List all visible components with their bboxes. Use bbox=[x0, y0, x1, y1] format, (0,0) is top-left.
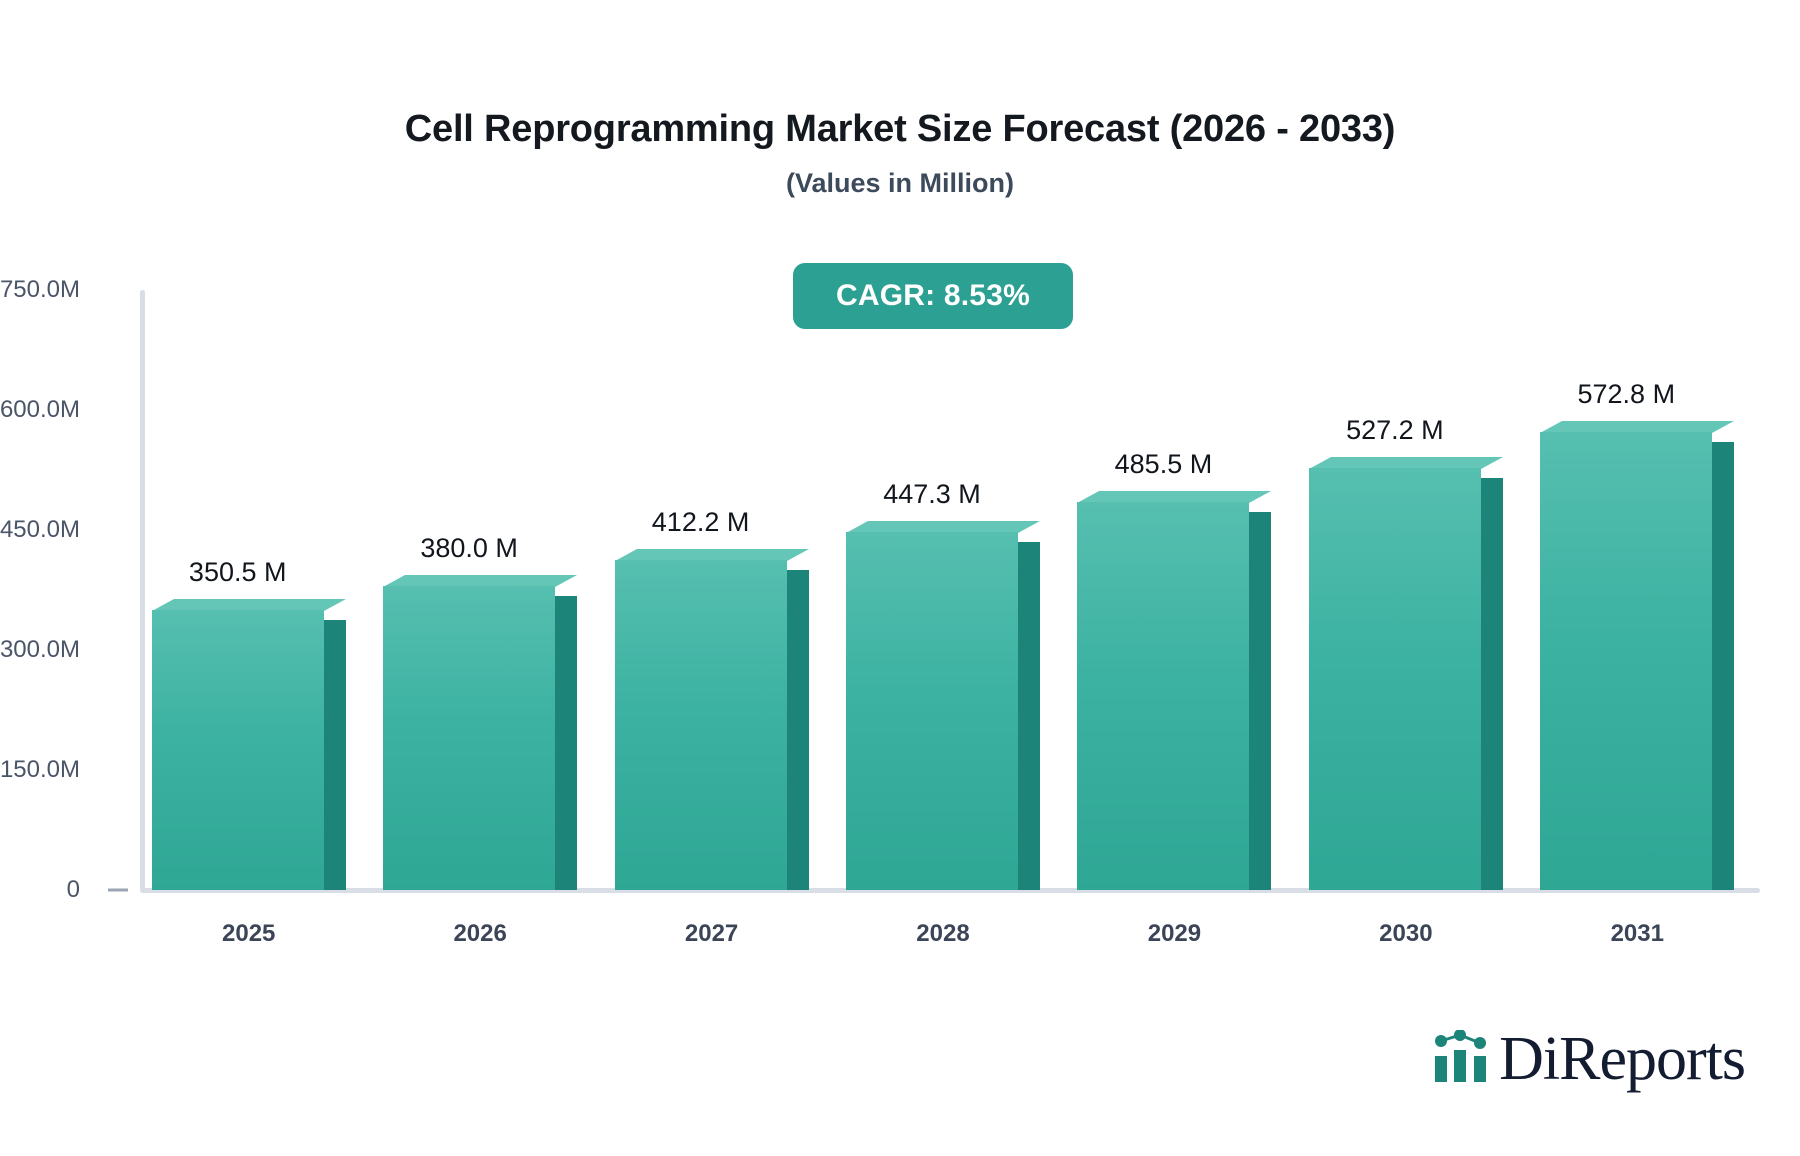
bar-front-face bbox=[1309, 468, 1481, 890]
x-axis-tick-label: 2026 bbox=[453, 920, 506, 948]
bar-2025[interactable]: 350.5 M bbox=[152, 610, 324, 890]
x-axis-tick-label: 2031 bbox=[1611, 920, 1664, 948]
y-axis-zero-tick bbox=[108, 889, 128, 892]
bar-2030[interactable]: 527.2 M bbox=[1309, 468, 1481, 890]
direports-logo: DiReports bbox=[1433, 1028, 1745, 1090]
bar-value-label: 380.0 M bbox=[420, 533, 518, 564]
bar-value-label: 485.5 M bbox=[1115, 449, 1213, 480]
bar-front-face bbox=[615, 560, 787, 890]
bar-front-face bbox=[1540, 432, 1712, 890]
bar-front-face bbox=[383, 586, 555, 890]
bar-side-face bbox=[324, 620, 346, 890]
bar-value-label: 572.8 M bbox=[1578, 379, 1676, 410]
bar-front-face bbox=[1077, 502, 1249, 890]
bar-side-face bbox=[555, 596, 577, 890]
bar-side-face bbox=[1481, 478, 1503, 890]
bar-side-face bbox=[1249, 512, 1271, 890]
chart-container: Cell Reprogramming Market Size Forecast … bbox=[0, 0, 1800, 1156]
chart-title: Cell Reprogramming Market Size Forecast … bbox=[0, 108, 1800, 151]
y-axis-tick-label: 150.0M bbox=[0, 756, 80, 784]
bar-side-face bbox=[787, 570, 809, 890]
x-axis-tick-label: 2025 bbox=[222, 920, 275, 948]
plot-area: 350.5 M380.0 M412.2 M447.3 M485.5 M527.2… bbox=[140, 290, 1760, 890]
bar-2028[interactable]: 447.3 M bbox=[846, 532, 1018, 890]
bar-front-face bbox=[152, 610, 324, 890]
bar-front-face bbox=[846, 532, 1018, 890]
y-axis-tick-label: 300.0M bbox=[0, 636, 80, 664]
bars-layer: 350.5 M380.0 M412.2 M447.3 M485.5 M527.2… bbox=[140, 290, 1760, 890]
y-axis-tick-label: 0 bbox=[0, 876, 80, 904]
bar-2029[interactable]: 485.5 M bbox=[1077, 502, 1249, 890]
chart-subtitle: (Values in Million) bbox=[0, 168, 1800, 199]
bar-value-label: 350.5 M bbox=[189, 557, 287, 588]
logo-wordmark: DiReports bbox=[1499, 1028, 1745, 1090]
bar-side-face bbox=[1712, 442, 1734, 890]
bar-2026[interactable]: 380.0 M bbox=[383, 586, 555, 890]
x-axis-tick-label: 2028 bbox=[916, 920, 969, 948]
bar-value-label: 527.2 M bbox=[1346, 415, 1444, 446]
bar-side-face bbox=[1018, 542, 1040, 890]
y-axis-tick-label: 600.0M bbox=[0, 396, 80, 424]
bar-chart-icon bbox=[1433, 1030, 1491, 1089]
x-axis-tick-label: 2029 bbox=[1148, 920, 1201, 948]
bar-2027[interactable]: 412.2 M bbox=[615, 560, 787, 890]
y-axis-tick-label: 450.0M bbox=[0, 516, 80, 544]
x-axis-tick-label: 2027 bbox=[685, 920, 738, 948]
y-axis-tick-label: 750.0M bbox=[0, 276, 80, 304]
bar-2031[interactable]: 572.8 M bbox=[1540, 432, 1712, 890]
x-axis-tick-label: 2030 bbox=[1379, 920, 1432, 948]
bar-value-label: 447.3 M bbox=[883, 479, 981, 510]
bar-value-label: 412.2 M bbox=[652, 507, 750, 538]
